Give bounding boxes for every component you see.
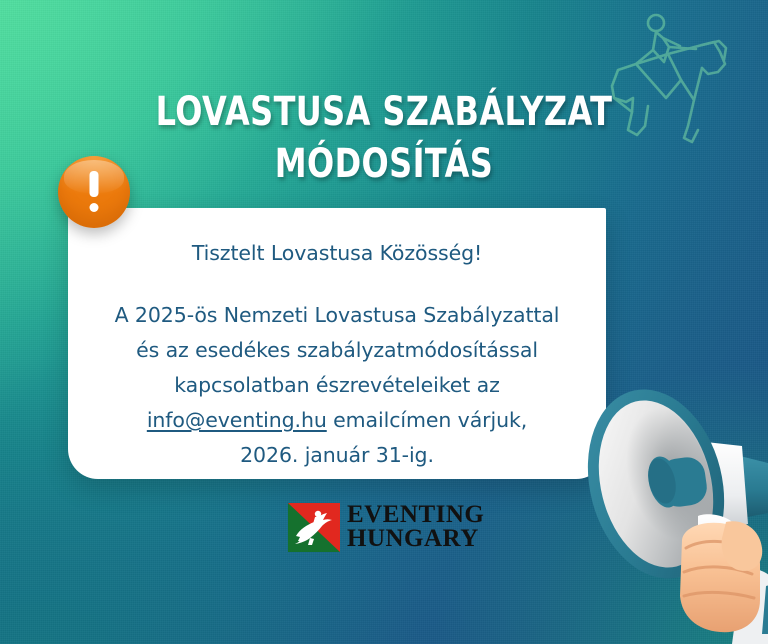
email-link[interactable]: info@eventing.hu: [147, 408, 327, 432]
greeting-text: Tisztelt Lovastusa Közösség!: [68, 236, 606, 271]
title-line-1: LOVASTUSA SZABÁLYZAT: [77, 86, 691, 138]
megaphone-icon: [556, 334, 768, 644]
logo-wordmark: EVENTING HUNGARY: [347, 503, 484, 551]
paragraph-line-4: info@eventing.hu emailcímen várjuk,: [68, 403, 606, 438]
exclamation-dot: [90, 203, 99, 212]
horse-and-rider-emblem: [288, 503, 340, 552]
alert-badge: [58, 156, 130, 228]
logo-word-eventing: EVENTING: [347, 503, 484, 527]
message-card: Tisztelt Lovastusa Közösség! A 2025-ös N…: [68, 208, 606, 479]
paragraph-line-3: kapcsolatban észrevételeiket az: [68, 368, 606, 403]
poster-canvas: LOVASTUSA SZABÁLYZAT MÓDOSÍTÁS Tisztelt …: [0, 0, 768, 644]
exclamation-stem: [90, 171, 99, 197]
exclamation-mark-icon: [90, 171, 99, 212]
logo-word-hungary: HUNGARY: [347, 527, 484, 551]
message-body: Tisztelt Lovastusa Közösség! A 2025-ös N…: [68, 236, 606, 473]
closing-line: 2026. január 31-ig.: [68, 438, 606, 473]
eventing-hungary-logo: EVENTING HUNGARY: [288, 500, 484, 554]
poster-title: LOVASTUSA SZABÁLYZAT MÓDOSÍTÁS: [77, 86, 691, 190]
email-line-suffix: emailcímen várjuk,: [327, 408, 527, 432]
paragraph-line-2: és az esedékes szabályzatmódosítással: [68, 333, 606, 368]
title-line-2: MÓDOSÍTÁS: [77, 138, 691, 190]
paragraph-line-1: A 2025-ös Nemzeti Lovastusa Szabályzatta…: [68, 298, 606, 333]
